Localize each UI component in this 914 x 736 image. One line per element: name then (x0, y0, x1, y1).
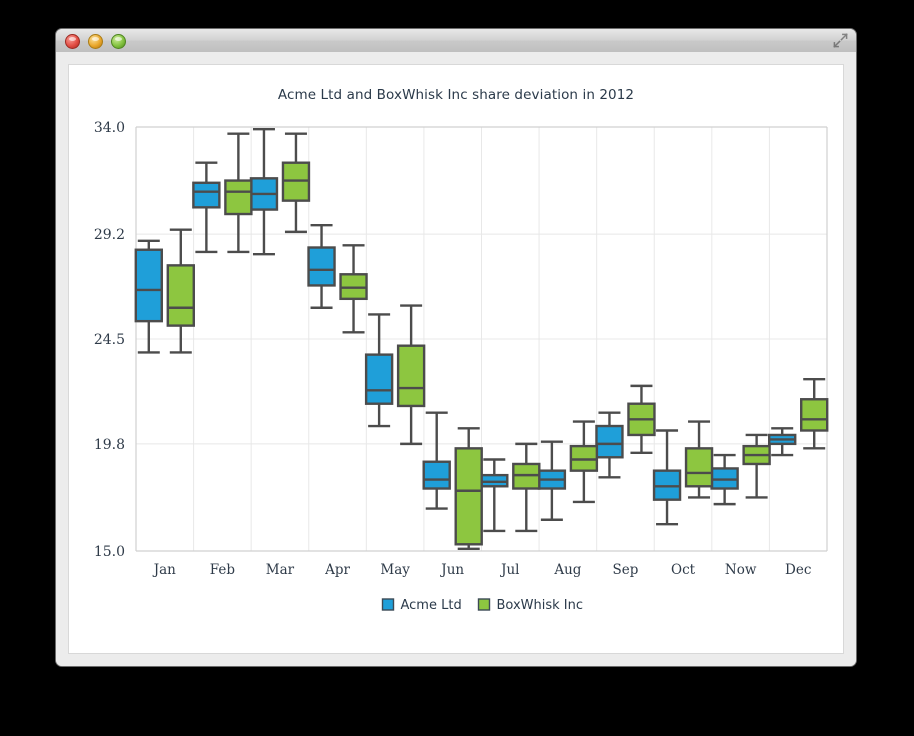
box-rect (398, 346, 424, 406)
box-rect (801, 399, 827, 430)
window-body: Acme Ltd and BoxWhisk Inc share deviatio… (56, 52, 856, 666)
x-axis-tick-label: Aug (553, 562, 581, 578)
x-axis-tick-label: Now (725, 562, 757, 578)
y-axis-tick-label: 15.0 (94, 544, 125, 560)
y-axis-tick-label: 24.5 (94, 332, 125, 348)
box-plot-item[interactable] (769, 428, 795, 455)
boxplot-chart: 34.029.224.519.815.0 JanFebMarAprMayJunJ… (69, 65, 843, 653)
box-plot-item[interactable] (309, 225, 335, 308)
box-plot-item[interactable] (539, 442, 565, 520)
app-window: Acme Ltd and BoxWhisk Inc share deviatio… (55, 28, 857, 667)
box-plot-item[interactable] (168, 230, 194, 353)
y-axis-tick-label: 29.2 (94, 227, 125, 243)
y-axis-tick-label: 19.8 (94, 437, 125, 453)
box-rect (225, 181, 251, 214)
y-axis-tick-label: 34.0 (94, 120, 125, 136)
legend-swatch (383, 599, 394, 610)
box-plot-item[interactable] (481, 460, 507, 531)
window-controls (65, 34, 126, 49)
x-axis-tick-label: Apr (324, 562, 350, 578)
box-plot-item[interactable] (686, 422, 712, 498)
box-plot-item[interactable] (456, 428, 482, 549)
box-rect (424, 462, 450, 489)
box-plot-item[interactable] (596, 413, 622, 478)
close-button[interactable] (65, 34, 80, 49)
box-plot-item[interactable] (628, 386, 654, 453)
box-plot-item[interactable] (398, 306, 424, 444)
x-axis-tick-label: Jul (499, 562, 519, 578)
zoom-button[interactable] (111, 34, 126, 49)
box-rect (309, 248, 335, 286)
legend-label: Acme Ltd (401, 598, 462, 613)
x-axis-tick-label: Mar (266, 562, 295, 578)
y-axis-ticks: 34.029.224.519.815.0 (94, 120, 125, 560)
box-plot-item[interactable] (571, 422, 597, 502)
chart-legend: Acme LtdBoxWhisk Inc (383, 598, 584, 613)
box-rect (193, 183, 219, 208)
x-axis-tick-label: May (380, 562, 410, 578)
legend-swatch (479, 599, 490, 610)
box-plot-item[interactable] (712, 455, 738, 504)
box-plot-item[interactable] (801, 379, 827, 448)
box-plot-item[interactable] (136, 241, 162, 353)
box-plot-item[interactable] (283, 134, 309, 232)
x-axis-tick-label: Feb (210, 562, 235, 578)
minimize-button[interactable] (88, 34, 103, 49)
screen: Acme Ltd and BoxWhisk Inc share deviatio… (0, 0, 914, 736)
resize-grip-icon[interactable] (833, 33, 848, 48)
boxplot-svg: 34.029.224.519.815.0 JanFebMarAprMayJunJ… (69, 65, 843, 665)
box-plot-item[interactable] (654, 430, 680, 524)
legend-label: BoxWhisk Inc (497, 598, 584, 613)
window-titlebar[interactable] (56, 29, 856, 53)
box-rect (686, 448, 712, 486)
legend-item-boxwhisk-inc[interactable]: BoxWhisk Inc (479, 598, 584, 613)
box-rect (168, 265, 194, 325)
box-plot-item[interactable] (424, 413, 450, 509)
box-rect (456, 448, 482, 544)
x-axis-tick-label: Jun (439, 562, 464, 578)
box-plot-item[interactable] (366, 314, 392, 426)
x-axis-tick-label: Oct (671, 562, 696, 578)
box-rect (596, 426, 622, 457)
x-axis-tick-label: Dec (785, 562, 811, 578)
legend-item-acme-ltd[interactable]: Acme Ltd (383, 598, 462, 613)
x-axis-tick-label: Jan (152, 562, 176, 578)
box-rect (366, 355, 392, 404)
x-axis-tick-label: Sep (613, 562, 639, 578)
box-plot-item[interactable] (341, 245, 367, 332)
chart-canvas: Acme Ltd and BoxWhisk Inc share deviatio… (68, 64, 844, 654)
box-plot-item[interactable] (513, 444, 539, 531)
x-axis-ticks: JanFebMarAprMayJunJulAugSepOctNowDec (152, 562, 812, 578)
box-plot-item[interactable] (251, 129, 277, 254)
box-rect (136, 250, 162, 321)
box-plot-item[interactable] (193, 163, 219, 252)
